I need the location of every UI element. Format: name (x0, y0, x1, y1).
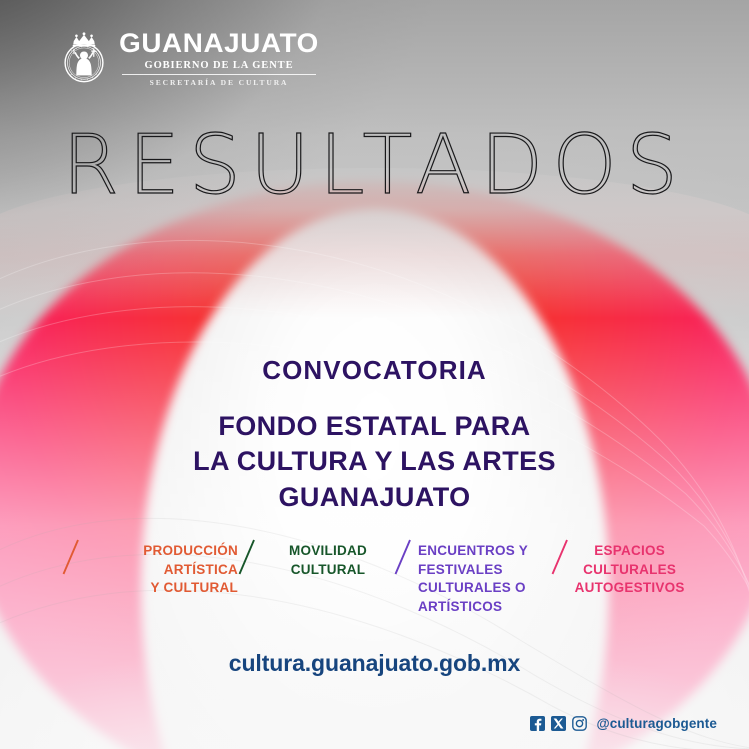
poster-canvas: GUANAJUATO GOBIERNO DE LA GENTE SECRETAR… (0, 0, 749, 749)
headline-line-3: GUANAJUATO (0, 480, 749, 516)
brand-lockup: GUANAJUATO GOBIERNO DE LA GENTE SECRETAR… (57, 30, 316, 87)
website-url[interactable]: cultura.guanajuato.gob.mx (0, 650, 749, 677)
slash-accent-icon (551, 536, 569, 576)
category-item-produccion-artistica-y-cultural[interactable]: PRODUCCIÓN ARTÍSTICA Y CULTURAL (62, 542, 238, 598)
category-label: MOVILIDAD CULTURAL (262, 542, 394, 579)
brand-subtitle: GOBIERNO DE LA GENTE (145, 60, 294, 71)
social-handle[interactable]: @culturagobgente (596, 716, 717, 731)
category-item-encuentros-y-festivales[interactable]: ENCUENTROS Y FESTIVALES CULTURALES O ART… (394, 542, 551, 617)
slash-accent-icon (394, 536, 412, 576)
brand-title: GUANAJUATO (119, 30, 319, 57)
guanajuato-state-seal-icon (57, 32, 111, 86)
category-list: PRODUCCIÓN ARTÍSTICA Y CULTURAL MOVILIDA… (62, 542, 709, 617)
instagram-icon[interactable] (572, 716, 587, 731)
category-label: PRODUCCIÓN ARTÍSTICA Y CULTURAL (86, 542, 238, 598)
brand-department: SECRETARÍA DE CULTURA (150, 78, 289, 87)
social-bar: @culturagobgente (530, 716, 717, 731)
category-item-movilidad-cultural[interactable]: MOVILIDAD CULTURAL (238, 542, 394, 582)
category-item-espacios-culturales-autogestivos[interactable]: ESPACIOS CULTURALES AUTOGESTIVOS (551, 542, 709, 598)
headline-line-2: LA CULTURA Y LAS ARTES (0, 444, 749, 480)
page-title-text: RESULTADOS (62, 125, 687, 207)
headline-line-1: FONDO ESTATAL PARA (0, 409, 749, 445)
slash-accent-icon (238, 536, 256, 576)
brand-divider (122, 74, 316, 75)
brand-wordmark: GUANAJUATO GOBIERNO DE LA GENTE SECRETAR… (122, 30, 316, 87)
facebook-icon[interactable] (530, 716, 545, 731)
page-title: RESULTADOS (0, 125, 749, 207)
category-label: ENCUENTROS Y FESTIVALES CULTURALES O ART… (418, 542, 528, 617)
headline-kicker: CONVOCATORIA (0, 356, 749, 385)
slash-accent-icon (62, 536, 80, 576)
headline-main: FONDO ESTATAL PARA LA CULTURA Y LAS ARTE… (0, 409, 749, 516)
x-twitter-icon[interactable] (551, 716, 566, 731)
headline-block: CONVOCATORIA FONDO ESTATAL PARA LA CULTU… (0, 356, 749, 515)
category-label: ESPACIOS CULTURALES AUTOGESTIVOS (575, 542, 685, 598)
